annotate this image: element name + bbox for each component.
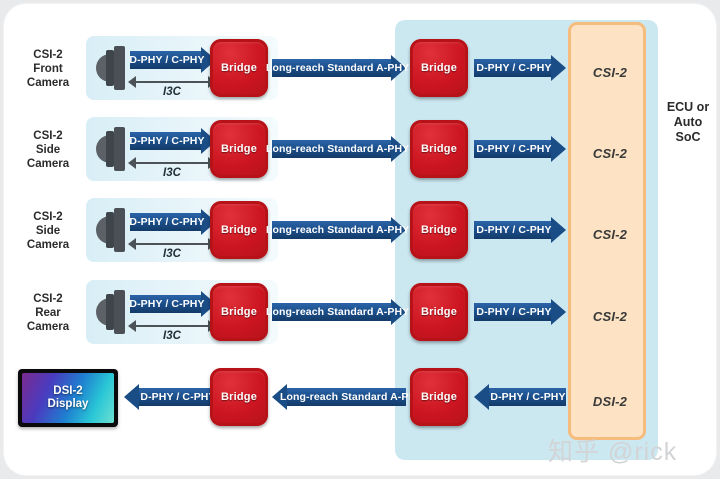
- link-arrow-aphy-rear: Long-reach Standard A-PHY: [272, 303, 406, 321]
- display-icon-dsi2: DSI-2 Display: [18, 369, 118, 427]
- source-label-front-camera: CSI-2 Front Camera: [14, 48, 82, 90]
- link-arrow-dphy-cphy-soc-display: D-PHY / C-PHY: [474, 388, 566, 406]
- camera-icon-front: [96, 46, 126, 90]
- link-arrow-dphy-cphy-side-1: D-PHY / C-PHY: [130, 132, 216, 150]
- bridge-far-side-1: Bridge: [410, 120, 468, 178]
- source-label-line-2: Side: [14, 143, 82, 157]
- control-arrow-label: I3C: [128, 167, 216, 179]
- display-label-line-2: Display: [48, 398, 89, 410]
- link-arrow-aphy-side-2: Long-reach Standard A-PHY: [272, 221, 406, 239]
- bridge-label: Bridge: [421, 62, 457, 74]
- ecu-label-line-1: ECU or: [658, 100, 718, 115]
- link-arrow-aphy-display: Long-reach Standard A-PHY: [272, 388, 406, 406]
- link-arrow-dphy-cphy-rear: D-PHY / C-PHY: [130, 295, 216, 313]
- bridge-near-side-2: Bridge: [210, 201, 268, 259]
- link-arrow-label: Long-reach Standard A-PHY: [266, 303, 400, 321]
- diagram-canvas: CSI-2 CSI-2 CSI-2 CSI-2 DSI-2 ECU or Aut…: [0, 0, 720, 479]
- source-label-line-2: Rear: [14, 306, 82, 320]
- bridge-far-rear: Bridge: [410, 283, 468, 341]
- link-arrow-label: D-PHY / C-PHY: [124, 295, 210, 313]
- source-label-side-camera-2: CSI-2 Side Camera: [14, 210, 82, 252]
- bridge-near-front: Bridge: [210, 39, 268, 97]
- bridge-label: Bridge: [221, 391, 257, 403]
- bridge-label: Bridge: [221, 306, 257, 318]
- link-arrow-label: Long-reach Standard A-PHY: [280, 388, 414, 406]
- source-label-rear-camera: CSI-2 Rear Camera: [14, 292, 82, 334]
- source-label-line-1: CSI-2: [14, 292, 82, 306]
- bridge-label: Bridge: [221, 224, 257, 236]
- link-arrow-aphy-front: Long-reach Standard A-PHY: [272, 59, 406, 77]
- camera-icon-side-2: [96, 208, 126, 252]
- link-arrow-label: Long-reach Standard A-PHY: [266, 221, 400, 239]
- link-arrow-label: Long-reach Standard A-PHY: [266, 140, 400, 158]
- bridge-label: Bridge: [421, 224, 457, 236]
- bridge-near-display: Bridge: [210, 368, 268, 426]
- bridge-far-front: Bridge: [410, 39, 468, 97]
- control-arrow-label: I3C: [128, 330, 216, 342]
- link-arrow-label: D-PHY / C-PHY: [468, 140, 560, 158]
- source-label-line-3: Camera: [14, 157, 82, 171]
- source-label-line-3: Camera: [14, 320, 82, 334]
- link-arrow-dphy-cphy-side-2: D-PHY / C-PHY: [130, 213, 216, 231]
- link-arrow-label: D-PHY / C-PHY: [468, 303, 560, 321]
- link-arrow-dphy-cphy-soc-rear: D-PHY / C-PHY: [474, 303, 566, 321]
- link-arrow-label: D-PHY / C-PHY: [468, 221, 560, 239]
- control-arrow-label: I3C: [128, 248, 216, 260]
- link-arrow-aphy-side-1: Long-reach Standard A-PHY: [272, 140, 406, 158]
- link-arrow-label: D-PHY / C-PHY: [124, 132, 210, 150]
- source-label-line-3: Camera: [14, 238, 82, 252]
- watermark: 知乎 @rick: [548, 432, 677, 468]
- interface-label-csi2-side2: CSI-2: [571, 227, 649, 242]
- link-arrow-label: D-PHY / C-PHY: [482, 388, 574, 406]
- link-arrow-dphy-cphy-soc-side-2: D-PHY / C-PHY: [474, 221, 566, 239]
- bridge-near-side-1: Bridge: [210, 120, 268, 178]
- link-arrow-dphy-cphy-front: D-PHY / C-PHY: [130, 51, 216, 69]
- ecu-label-line-3: SoC: [658, 130, 718, 145]
- bridge-near-rear: Bridge: [210, 283, 268, 341]
- link-arrow-dphy-cphy-soc-side-1: D-PHY / C-PHY: [474, 140, 566, 158]
- link-arrow-label: D-PHY / C-PHY: [124, 213, 210, 231]
- bridge-label: Bridge: [421, 306, 457, 318]
- source-label-side-camera-1: CSI-2 Side Camera: [14, 129, 82, 171]
- camera-icon-rear: [96, 290, 126, 334]
- display-screen: DSI-2 Display: [22, 373, 114, 423]
- source-label-line-1: CSI-2: [14, 210, 82, 224]
- camera-icon-side-1: [96, 127, 126, 171]
- ecu-label: ECU or Auto SoC: [658, 100, 718, 145]
- bridge-label: Bridge: [421, 143, 457, 155]
- link-arrow-dphy-cphy-soc-front: D-PHY / C-PHY: [474, 59, 566, 77]
- link-arrow-label: D-PHY / C-PHY: [124, 51, 210, 69]
- bridge-label: Bridge: [221, 62, 257, 74]
- source-label-line-1: CSI-2: [14, 129, 82, 143]
- display-label-line-1: DSI-2: [53, 385, 82, 397]
- soc-interface-stack: CSI-2 CSI-2 CSI-2 CSI-2 DSI-2: [568, 22, 646, 440]
- control-arrow-i3c-front: I3C: [128, 76, 216, 102]
- interface-label-csi2-front: CSI-2: [571, 65, 649, 80]
- source-label-line-1: CSI-2: [14, 48, 82, 62]
- link-arrow-dphy-cphy-display: D-PHY / C-PHY: [124, 388, 216, 406]
- source-label-line-2: Side: [14, 224, 82, 238]
- link-arrow-label: Long-reach Standard A-PHY: [266, 59, 400, 77]
- bridge-label: Bridge: [421, 391, 457, 403]
- control-arrow-i3c-rear: I3C: [128, 320, 216, 346]
- display-label: DSI-2 Display: [48, 385, 89, 411]
- control-arrow-label: I3C: [128, 86, 216, 98]
- interface-label-dsi2: DSI-2: [571, 394, 649, 409]
- ecu-label-line-2: Auto: [658, 115, 718, 130]
- interface-label-csi2-side1: CSI-2: [571, 146, 649, 161]
- link-arrow-label: D-PHY / C-PHY: [468, 59, 560, 77]
- control-arrow-i3c-side-1: I3C: [128, 157, 216, 183]
- interface-label-csi2-rear: CSI-2: [571, 309, 649, 324]
- control-arrow-i3c-side-2: I3C: [128, 238, 216, 264]
- bridge-far-display: Bridge: [410, 368, 468, 426]
- bridge-far-side-2: Bridge: [410, 201, 468, 259]
- source-label-line-3: Camera: [14, 76, 82, 90]
- bridge-label: Bridge: [221, 143, 257, 155]
- source-label-line-2: Front: [14, 62, 82, 76]
